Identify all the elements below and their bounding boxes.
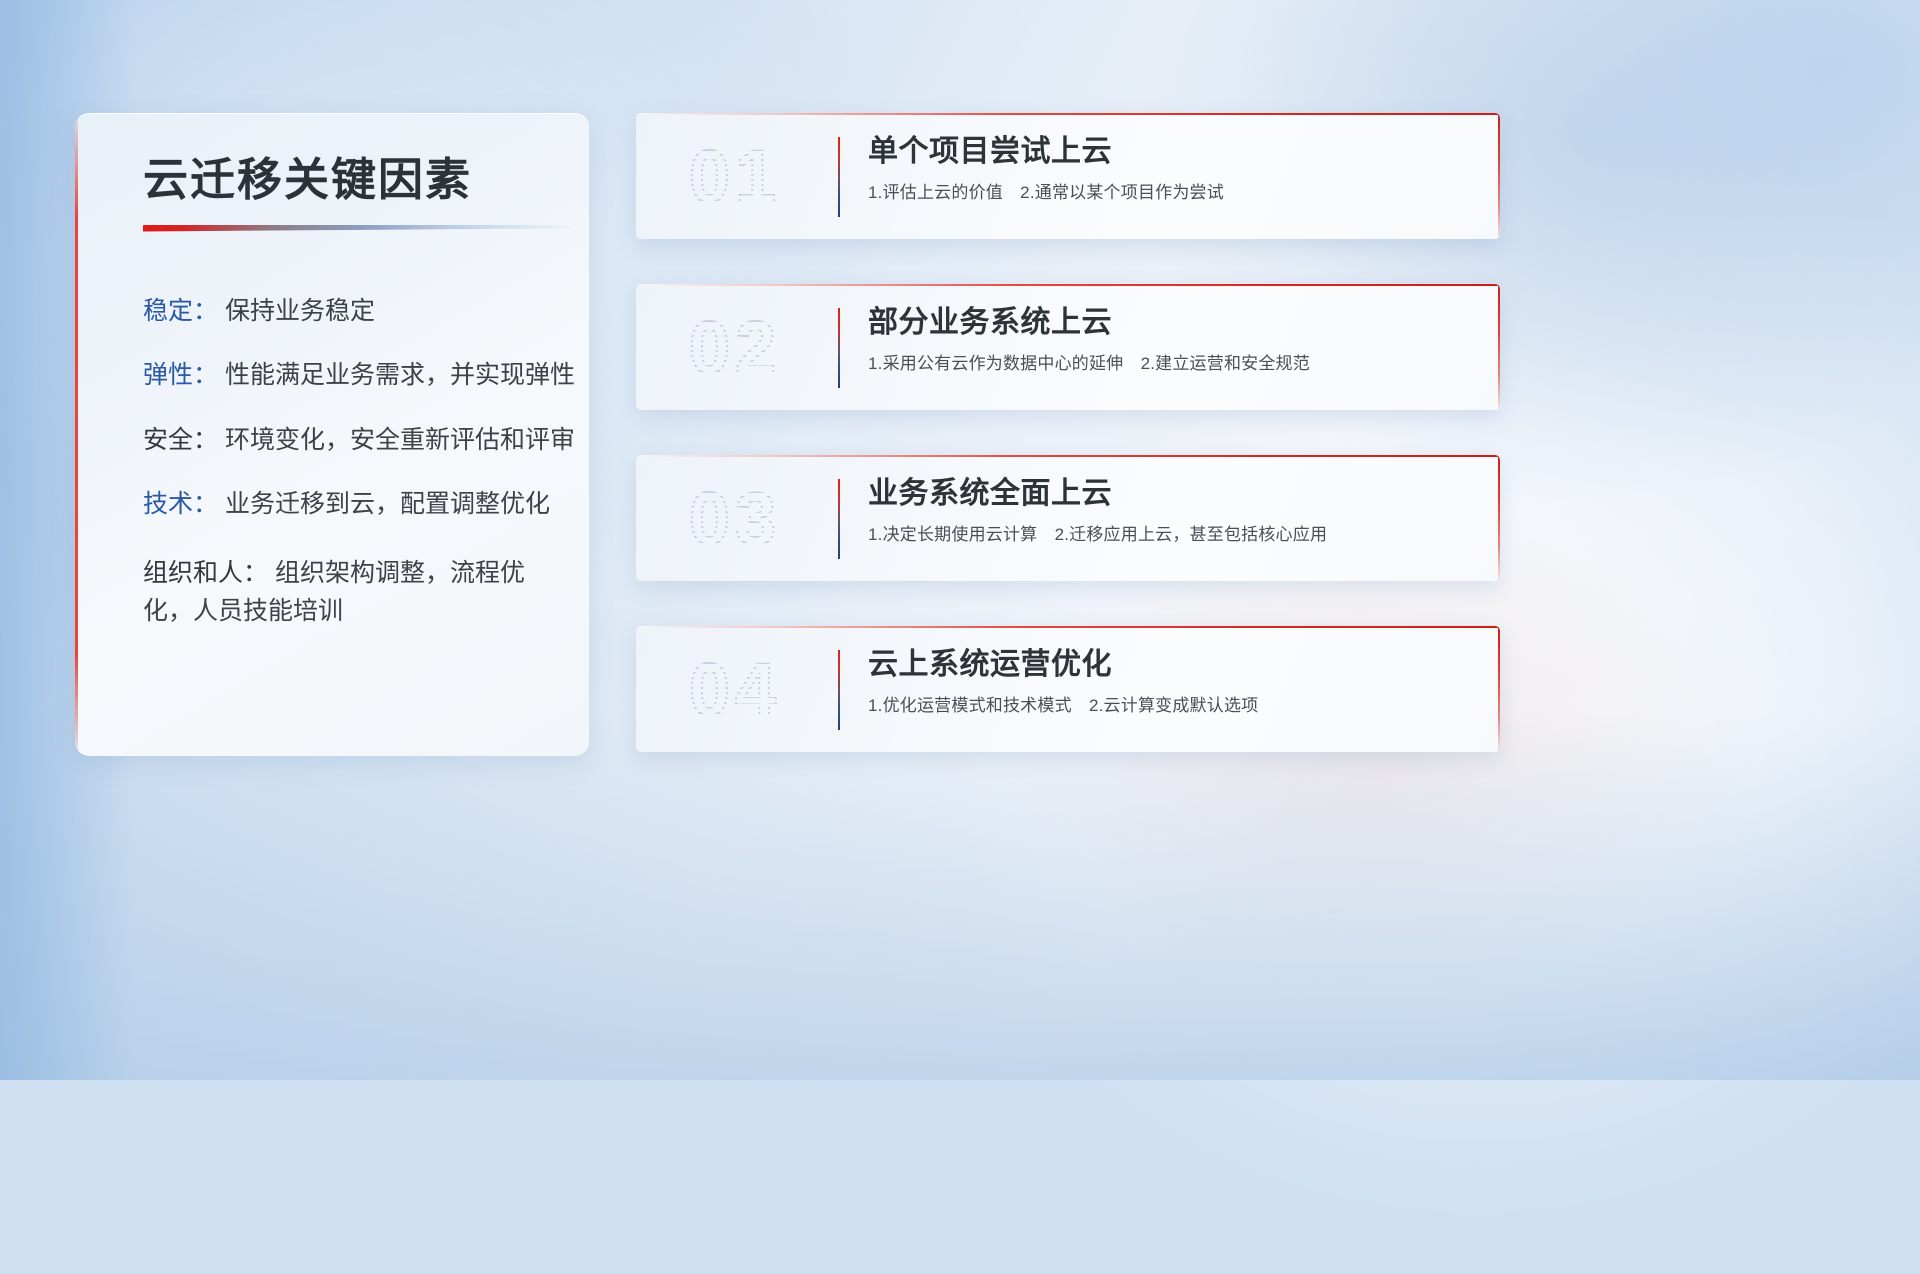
key-factor-text: 保持业务稳定 [225,297,375,325]
key-factors-list: 稳定： 保持业务稳定弹性： 性能满足业务需求，并实现弹性安全： 环境变化，安全重… [109,232,555,630]
stage-description: 1.决定长期使用云计算 2.迁移应用上云，甚至包括核心应用 [868,524,1474,546]
key-factor-item: 稳定： 保持业务稳定 [143,296,555,328]
key-factor-text: 性能满足业务需求，并实现弹性 [225,361,575,389]
key-factor-label: 弹性： [143,361,218,389]
card-right-accent-line [1498,113,1500,239]
card-right-accent-line [1498,626,1500,752]
card-right-accent-line [1498,455,1500,581]
migration-stage-card[interactable]: 03业务系统全面上云1.决定长期使用云计算 2.迁移应用上云，甚至包括核心应用 [636,455,1500,581]
key-factor-item: 弹性： 性能满足业务需求，并实现弹性 [143,360,555,392]
key-factor-label: 组织和人： [143,559,268,587]
card-vertical-divider [838,308,840,388]
card-top-accent-line [636,284,1500,286]
stage-card-body: 部分业务系统上云1.采用公有云作为数据中心的延伸 2.建立运营和安全规范 [868,306,1474,375]
page-title: 云迁移关键因素 [109,113,555,205]
stage-description: 1.采用公有云作为数据中心的延伸 2.建立运营和安全规范 [868,353,1474,375]
stage-title: 单个项目尝试上云 [868,135,1474,170]
slide-content: 云迁移关键因素 稳定： 保持业务稳定弹性： 性能满足业务需求，并实现弹性安全： … [0,0,1920,1080]
card-vertical-divider [838,650,840,730]
stage-title: 业务系统全面上云 [868,477,1474,512]
migration-stage-card[interactable]: 02部分业务系统上云1.采用公有云作为数据中心的延伸 2.建立运营和安全规范 [636,284,1500,410]
stage-description: 1.评估上云的价值 2.通常以某个项目作为尝试 [868,182,1474,204]
key-factor-label: 技术： [143,490,218,518]
stage-card-body: 云上系统运营优化1.优化运营模式和技术模式 2.云计算变成默认选项 [868,648,1474,717]
title-underline-rule [143,225,571,232]
card-right-accent-line [1498,284,1500,410]
key-factor-item: 组织和人： 组织架构调整，流程优化，人员技能培训 [143,554,555,630]
card-vertical-divider [838,137,840,217]
card-vertical-divider [838,479,840,559]
card-top-accent-line [636,455,1500,457]
key-factor-item: 安全： 环境变化，安全重新评估和评审 [143,425,555,457]
card-top-accent-line [636,626,1500,628]
key-factors-card-inner: 云迁移关键因素 稳定： 保持业务稳定弹性： 性能满足业务需求，并实现弹性安全： … [75,113,589,756]
key-factor-label: 安全： [143,426,218,454]
stage-number-outline: 01 [660,129,810,225]
stage-description: 1.优化运营模式和技术模式 2.云计算变成默认选项 [868,695,1474,717]
stage-title: 部分业务系统上云 [868,306,1474,341]
migration-stage-card[interactable]: 04云上系统运营优化1.优化运营模式和技术模式 2.云计算变成默认选项 [636,626,1500,752]
stage-number-outline: 03 [660,471,810,567]
key-factor-item: 技术： 业务迁移到云，配置调整优化 [143,489,555,521]
migration-stage-card[interactable]: 01单个项目尝试上云1.评估上云的价值 2.通常以某个项目作为尝试 [636,113,1500,239]
stage-title: 云上系统运营优化 [868,648,1474,683]
card-top-accent-line [636,113,1500,115]
stage-number-outline: 02 [660,300,810,396]
stage-card-body: 单个项目尝试上云1.评估上云的价值 2.通常以某个项目作为尝试 [868,135,1474,204]
key-factor-text: 业务迁移到云，配置调整优化 [225,490,550,518]
key-factor-text: 环境变化，安全重新评估和评审 [225,426,575,454]
stage-number-outline: 04 [660,642,810,738]
key-factors-card: 云迁移关键因素 稳定： 保持业务稳定弹性： 性能满足业务需求，并实现弹性安全： … [75,113,589,756]
key-factor-label: 稳定： [143,297,218,325]
stage-card-body: 业务系统全面上云1.决定长期使用云计算 2.迁移应用上云，甚至包括核心应用 [868,477,1474,546]
